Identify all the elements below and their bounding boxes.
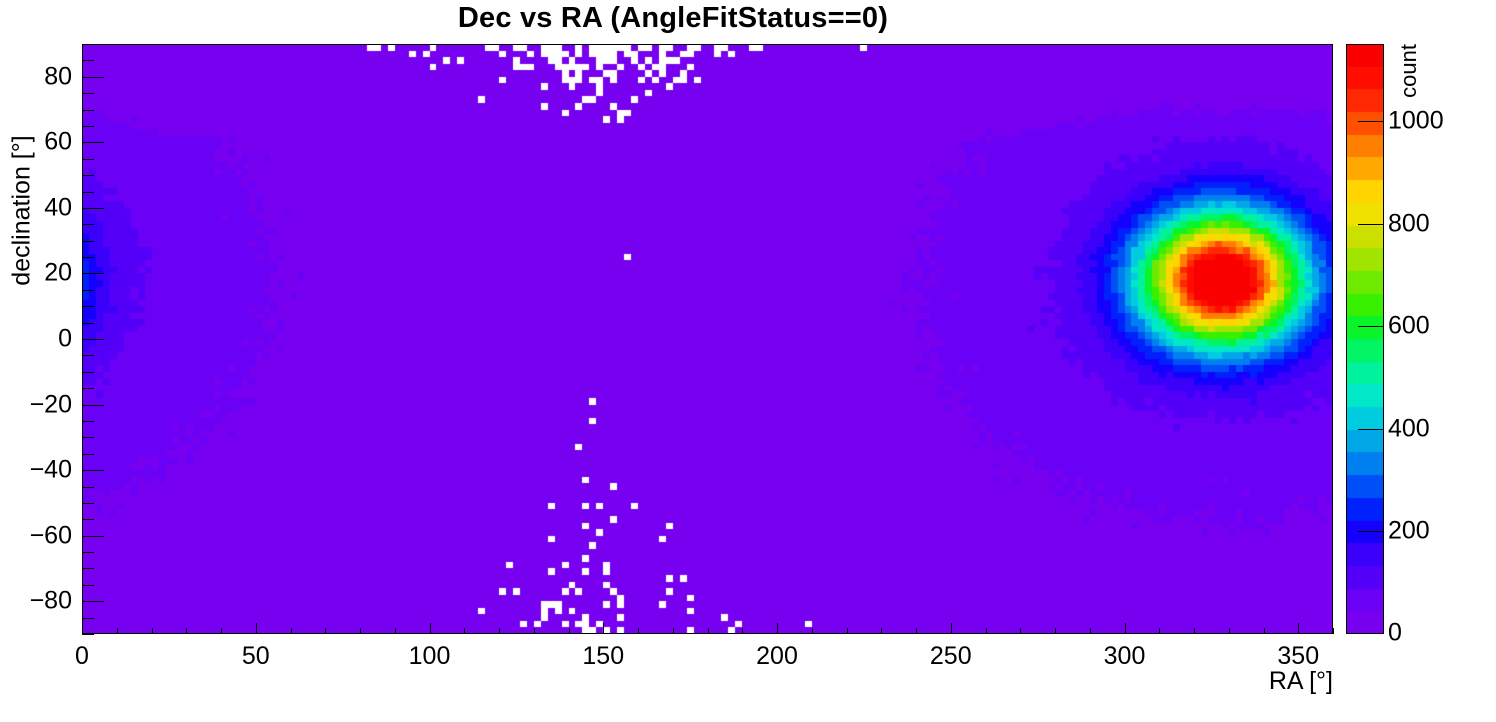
y-tick-minor	[82, 454, 94, 455]
x-tick-minor	[1333, 628, 1334, 634]
colorbar-tick-label: 600	[1388, 312, 1430, 341]
x-tick-minor	[291, 628, 292, 634]
x-tick-minor	[1090, 628, 1091, 634]
y-tick-minor	[82, 159, 94, 160]
page-title: Dec vs RA (AngleFitStatus==0)	[0, 2, 1346, 35]
y-tick-major	[82, 77, 104, 78]
x-tick-minor	[152, 628, 153, 634]
x-tick-minor	[325, 628, 326, 634]
x-tick-major	[951, 623, 952, 634]
x-tick-minor	[812, 628, 813, 634]
y-tick-minor	[82, 224, 94, 225]
y-tick-label: 80	[0, 62, 72, 91]
y-tick-minor	[82, 503, 94, 504]
y-tick-major	[82, 142, 104, 143]
x-tick-minor	[117, 628, 118, 634]
y-tick-minor	[82, 618, 94, 619]
colorbar-tick	[1358, 121, 1384, 122]
y-tick-minor	[82, 372, 94, 373]
y-tick-major	[82, 536, 104, 537]
colorbar-tick	[1358, 531, 1384, 532]
y-tick-label: −80	[0, 587, 72, 616]
y-tick-major	[82, 405, 104, 406]
x-tick-label: 0	[75, 642, 89, 671]
x-tick-label: 100	[409, 642, 451, 671]
x-tick-minor	[638, 628, 639, 634]
x-tick-minor	[986, 628, 987, 634]
x-tick-major	[1298, 623, 1299, 634]
y-tick-minor	[82, 585, 94, 586]
y-tick-minor	[82, 290, 94, 291]
x-tick-major	[603, 623, 604, 634]
y-tick-major	[82, 470, 104, 471]
x-tick-minor	[881, 628, 882, 634]
y-tick-minor	[82, 437, 94, 438]
y-tick-minor	[82, 192, 94, 193]
x-tick-minor	[708, 628, 709, 634]
y-tick-minor	[82, 126, 94, 127]
x-tick-label: 250	[930, 642, 972, 671]
colorbar-title: count	[1396, 44, 1422, 164]
x-tick-minor	[1264, 628, 1265, 634]
colorbar-tick-label: 0	[1388, 619, 1402, 648]
y-tick-minor	[82, 568, 94, 569]
x-tick-minor	[499, 628, 500, 634]
y-tick-minor	[82, 519, 94, 520]
colorbar-tick	[1358, 429, 1384, 430]
x-tick-minor	[673, 628, 674, 634]
x-tick-minor	[1055, 628, 1056, 634]
x-tick-minor	[221, 628, 222, 634]
colorbar: 02004006008001000	[1346, 44, 1384, 634]
y-tick-minor	[82, 355, 94, 356]
y-tick-label: 0	[0, 325, 72, 354]
y-tick-major	[82, 339, 104, 340]
x-tick-minor	[1194, 628, 1195, 634]
x-tick-minor	[569, 628, 570, 634]
x-tick-minor	[186, 628, 187, 634]
y-tick-minor	[82, 421, 94, 422]
x-tick-minor	[395, 628, 396, 634]
y-tick-major	[82, 601, 104, 602]
x-tick-major	[256, 623, 257, 634]
x-tick-major	[82, 623, 83, 634]
y-tick-minor	[82, 257, 94, 258]
x-tick-minor	[1229, 628, 1230, 634]
y-tick-minor	[82, 241, 94, 242]
histogram-canvas	[82, 44, 1333, 634]
y-tick-minor	[82, 552, 94, 553]
y-axis-title: declination [°]	[8, 111, 37, 311]
y-tick-label: −60	[0, 521, 72, 550]
x-tick-label: 300	[1104, 642, 1146, 671]
x-tick-major	[777, 623, 778, 634]
x-tick-minor	[847, 628, 848, 634]
y-tick-minor	[82, 306, 94, 307]
colorbar-tick-label: 800	[1388, 209, 1430, 238]
y-tick-label: −40	[0, 456, 72, 485]
x-tick-label: 150	[582, 642, 624, 671]
y-tick-major	[82, 273, 104, 274]
x-tick-minor	[1159, 628, 1160, 634]
y-tick-minor	[82, 323, 94, 324]
x-tick-major	[430, 623, 431, 634]
x-tick-minor	[916, 628, 917, 634]
x-tick-label: 50	[242, 642, 270, 671]
y-tick-minor	[82, 110, 94, 111]
colorbar-gradient	[1346, 44, 1384, 634]
y-tick-minor	[82, 60, 94, 61]
y-tick-minor	[82, 44, 94, 45]
y-tick-major	[82, 208, 104, 209]
colorbar-tick	[1358, 326, 1384, 327]
x-tick-major	[1125, 623, 1126, 634]
y-tick-minor	[82, 388, 94, 389]
x-tick-label: 200	[756, 642, 798, 671]
colorbar-tick-label: 200	[1388, 517, 1430, 546]
x-tick-minor	[534, 628, 535, 634]
y-tick-minor	[82, 634, 94, 635]
x-tick-minor	[1020, 628, 1021, 634]
x-tick-minor	[464, 628, 465, 634]
x-axis-title: RA [°]	[1269, 667, 1333, 696]
y-tick-minor	[82, 487, 94, 488]
colorbar-tick-label: 400	[1388, 414, 1430, 443]
colorbar-tick	[1358, 224, 1384, 225]
x-tick-minor	[742, 628, 743, 634]
x-tick-minor	[360, 628, 361, 634]
y-tick-label: −20	[0, 390, 72, 419]
y-tick-minor	[82, 175, 94, 176]
y-tick-minor	[82, 93, 94, 94]
plot-root: Dec vs RA (AngleFitStatus==0) 0501001502…	[0, 0, 1496, 722]
